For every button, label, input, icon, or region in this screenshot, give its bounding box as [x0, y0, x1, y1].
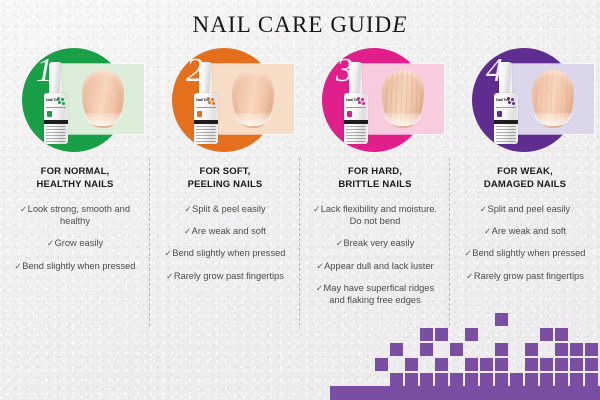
bullet-item: ✓Are weak and soft [457, 225, 593, 237]
heading-line-2: PEELING NAILS [188, 179, 263, 190]
nail-illustration [232, 70, 274, 128]
mosaic-cell [555, 373, 568, 386]
check-icon: ✓ [47, 238, 54, 248]
mosaic-cell [450, 373, 463, 386]
mosaic-cell [495, 343, 508, 356]
bullet-text: Look strong, smooth and healthy [28, 204, 130, 226]
bullet-text: Are weak and soft [192, 226, 266, 236]
mosaic-cell [585, 343, 598, 356]
bullet-item: ✓Are weak and soft [157, 225, 293, 237]
bullet-item: ✓Break very easily [307, 237, 443, 249]
bottle-body: Nail Tek [194, 93, 218, 144]
mosaic-base-bar [330, 386, 600, 400]
decorative-pixel-mosaic [330, 326, 600, 400]
bottle-body: Nail Tek [44, 93, 68, 144]
bottle-cap [349, 62, 362, 95]
bottle-rule [346, 107, 366, 108]
check-icon: ✓ [316, 283, 323, 293]
mosaic-cell [465, 328, 478, 341]
bullet-item: ✓May have superfical ridges and flaking … [307, 282, 443, 307]
bullet-text: Bend slightly when pressed [172, 248, 285, 258]
symptom-list: ✓Split and peel easily✓Are weak and soft… [450, 203, 600, 282]
bottle-color-chip [197, 111, 202, 117]
bottle-dark-band [344, 120, 368, 124]
nail-illustration [382, 70, 424, 128]
flower-icon [507, 97, 516, 106]
bullet-text: Break very easily [343, 238, 414, 248]
bottle-rule [196, 107, 216, 108]
guide-column-weak: 4 Nail Tek [450, 46, 600, 336]
bottle-body: Nail Tek [344, 93, 368, 144]
column-heading: FOR WEAK, DAMAGED NAILS [450, 166, 600, 192]
mosaic-cell [540, 373, 553, 386]
infographic-page: NAIL CARE GUIDE 1 Nail Tek [0, 0, 600, 400]
mosaic-cell [465, 358, 478, 371]
mosaic-cell [525, 358, 538, 371]
mosaic-cell [405, 373, 418, 386]
heading-line-2: BRITTLE NAILS [338, 179, 411, 190]
nail-polish-bottle: Nail Tek [44, 62, 68, 144]
mosaic-cell [390, 373, 403, 386]
mosaic-cell [435, 328, 448, 341]
nail-polish-bottle: Nail Tek [194, 62, 218, 144]
heading-line-1: FOR NORMAL, [41, 166, 110, 177]
bottle-rule [46, 107, 66, 108]
mosaic-cell [555, 358, 568, 371]
mosaic-cell [390, 343, 403, 356]
mosaic-cell [540, 328, 553, 341]
mosaic-cell [570, 343, 583, 356]
bullet-item: ✓Grow easily [7, 237, 143, 249]
bottle-fineprint [46, 126, 66, 142]
mosaic-cell [495, 373, 508, 386]
bullet-item: ✓Bend slightly when pressed [457, 247, 593, 259]
bottle-color-chip [47, 111, 52, 117]
symptom-list: ✓Lack flexibility and moisture. Do not b… [300, 203, 450, 307]
bullet-text: Are weak and soft [492, 226, 566, 236]
mosaic-cell [495, 313, 508, 326]
flower-icon [57, 97, 66, 106]
nail-polish-bottle: Nail Tek [494, 62, 518, 144]
bullet-item: ✓Rarely grow past fingertips [457, 270, 593, 282]
bullet-text: Split and peel easily [488, 204, 571, 214]
bullet-text: Split & peel easily [192, 204, 265, 214]
nail-polish-bottle: Nail Tek [344, 62, 368, 144]
mosaic-cell [555, 328, 568, 341]
column-heading: FOR NORMAL, HEALTHY NAILS [0, 166, 150, 192]
bottle-dark-band [494, 120, 518, 124]
column-artwork: 4 Nail Tek [450, 46, 600, 158]
bullet-text: May have superfical ridges and flaking f… [324, 283, 435, 305]
mosaic-cell [540, 358, 553, 371]
page-title-text: NAIL CARE GUID [193, 12, 393, 37]
guide-columns: 1 Nail Tek [0, 46, 600, 336]
check-icon: ✓ [166, 271, 173, 281]
mosaic-cell [525, 373, 538, 386]
guide-column-normal: 1 Nail Tek [0, 46, 150, 336]
mosaic-cell [420, 343, 433, 356]
check-icon: ✓ [316, 261, 323, 271]
mosaic-cell [495, 358, 508, 371]
bottle-body: Nail Tek [494, 93, 518, 144]
nail-ridges [382, 70, 424, 128]
bottle-cap [199, 62, 212, 95]
nail-illustration [532, 70, 574, 128]
mosaic-cell [570, 358, 583, 371]
nail-photo [512, 64, 594, 134]
check-icon: ✓ [465, 248, 472, 258]
nail-photo [62, 64, 144, 134]
mosaic-cell [570, 373, 583, 386]
mosaic-cell [525, 343, 538, 356]
heading-line-1: FOR SOFT, [200, 166, 251, 177]
bottle-dark-band [44, 120, 68, 124]
mosaic-cell [450, 343, 463, 356]
mosaic-cell [480, 358, 493, 371]
check-icon: ✓ [466, 271, 473, 281]
check-icon: ✓ [20, 204, 27, 214]
nail-photo [362, 64, 444, 134]
bullet-text: Bend slightly when pressed [472, 248, 585, 258]
bottle-cap [499, 62, 512, 95]
column-artwork: 3 Nail Tek [300, 46, 450, 158]
bottle-fineprint [346, 126, 366, 142]
bottle-color-chip [497, 111, 502, 117]
bottle-cap [49, 62, 62, 95]
mosaic-cell [510, 373, 523, 386]
heading-line-2: HEALTHY NAILS [36, 179, 113, 190]
bottle-fineprint [496, 126, 516, 142]
bullet-item: ✓Lack flexibility and moisture. Do not b… [307, 203, 443, 228]
bullet-text: Grow easily [55, 238, 104, 248]
guide-column-soft: 2 Nail Tek [150, 46, 300, 336]
check-icon: ✓ [336, 238, 343, 248]
check-icon: ✓ [184, 226, 191, 236]
column-artwork: 1 Nail Tek [0, 46, 150, 158]
bullet-item: ✓Bend slightly when pressed [7, 260, 143, 272]
mosaic-cell [555, 343, 568, 356]
column-artwork: 2 Nail Tek [150, 46, 300, 158]
bullet-item: ✓Split & peel easily [157, 203, 293, 215]
nail-illustration [82, 70, 124, 128]
bullet-item: ✓Appear dull and lack luster [307, 260, 443, 272]
bullet-text: Lack flexibility and moisture. Do not be… [321, 204, 437, 226]
mosaic-cell [435, 373, 448, 386]
bullet-item: ✓Look strong, smooth and healthy [7, 203, 143, 228]
check-icon: ✓ [480, 204, 487, 214]
page-title: NAIL CARE GUIDE [0, 12, 600, 38]
bullet-text: Rarely grow past fingertips [474, 271, 584, 281]
nail-photo [212, 64, 294, 134]
mosaic-cell [480, 373, 493, 386]
check-icon: ✓ [184, 204, 191, 214]
flower-icon [207, 97, 216, 106]
check-icon: ✓ [484, 226, 491, 236]
check-icon: ✓ [313, 204, 320, 214]
bullet-text: Rarely grow past fingertips [174, 271, 284, 281]
mosaic-cell [585, 373, 598, 386]
guide-column-hard: 3 Nail Tek [300, 46, 450, 336]
mosaic-cell [375, 358, 388, 371]
mosaic-cell [420, 373, 433, 386]
heading-line-1: FOR HARD, [348, 166, 402, 177]
mosaic-cell [585, 358, 598, 371]
bottle-dark-band [194, 120, 218, 124]
bottle-color-chip [347, 111, 352, 117]
check-icon: ✓ [165, 248, 172, 258]
bottle-fineprint [196, 126, 216, 142]
bottle-rule [496, 107, 516, 108]
flower-icon [357, 97, 366, 106]
heading-line-1: FOR WEAK, [497, 166, 553, 177]
symptom-list: ✓Look strong, smooth and healthy✓Grow ea… [0, 203, 150, 272]
bullet-text: Appear dull and lack luster [324, 261, 434, 271]
mosaic-cell [420, 328, 433, 341]
heading-line-2: DAMAGED NAILS [484, 179, 566, 190]
bullet-item: ✓Split and peel easily [457, 203, 593, 215]
symptom-list: ✓Split & peel easily✓Are weak and soft✓B… [150, 203, 300, 282]
bullet-item: ✓Bend slightly when pressed [157, 247, 293, 259]
mosaic-cell [465, 373, 478, 386]
column-heading: FOR SOFT, PEELING NAILS [150, 166, 300, 192]
page-title-tail: E [392, 12, 407, 37]
nail-ridges [532, 70, 574, 128]
bullet-text: Bend slightly when pressed [22, 261, 135, 271]
bullet-item: ✓Rarely grow past fingertips [157, 270, 293, 282]
mosaic-cell [405, 358, 418, 371]
mosaic-cell [435, 358, 448, 371]
check-icon: ✓ [15, 261, 22, 271]
column-heading: FOR HARD, BRITTLE NAILS [300, 166, 450, 192]
